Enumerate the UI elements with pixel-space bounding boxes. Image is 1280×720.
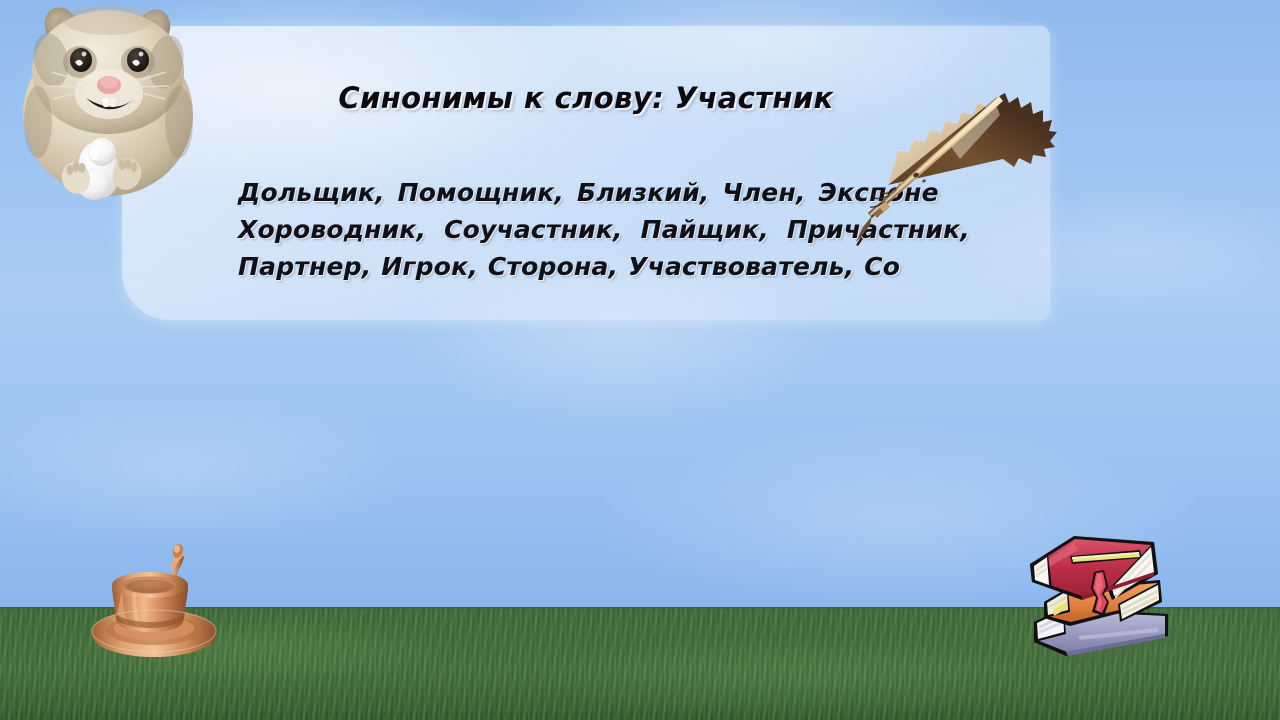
slide-canvas: Синонимы к слову: Участник Дольщик, Помо… bbox=[0, 0, 1280, 720]
inkwell-icon bbox=[84, 527, 224, 667]
hamster-icon bbox=[14, 2, 206, 204]
feather-quill-icon bbox=[800, 85, 1068, 270]
books-stack-icon bbox=[1008, 516, 1208, 676]
